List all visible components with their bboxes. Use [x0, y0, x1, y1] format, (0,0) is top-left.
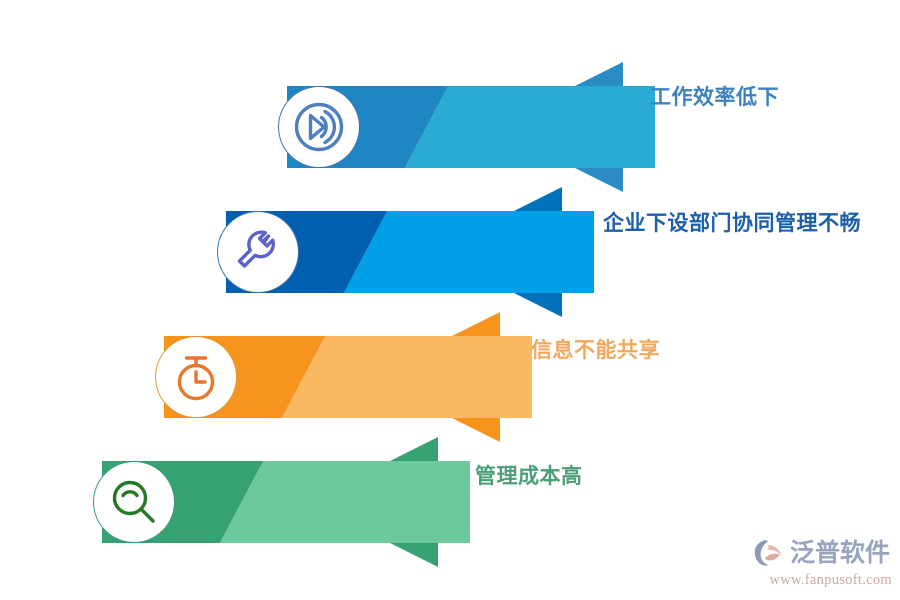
arrow-row-label: 工作效率低下	[650, 87, 779, 108]
wrench-circle-icon	[217, 211, 299, 293]
watermark-name: 泛普软件	[790, 541, 890, 566]
fast-forward-circle-icon	[278, 86, 360, 168]
magnifier-circle-icon	[93, 461, 175, 543]
watermark-top: 泛普软件	[752, 536, 892, 570]
watermark-url: www.fanpusoft.com	[752, 572, 892, 589]
watermark: 泛普软件 www.fanpusoft.com	[752, 536, 892, 594]
infographic-canvas: 泛普软件 www.fanpusoft.com 工作效率低下企业下设部门协同管理不…	[0, 0, 900, 600]
fanpu-logo-icon	[752, 538, 786, 568]
arrow-row-label: 管理成本高	[475, 466, 583, 487]
stopwatch-circle-icon	[155, 336, 237, 418]
arrow-row-label: 企业下设部门协同管理不畅	[603, 213, 861, 234]
arrow-row-label: 信息不能共享	[531, 340, 660, 361]
